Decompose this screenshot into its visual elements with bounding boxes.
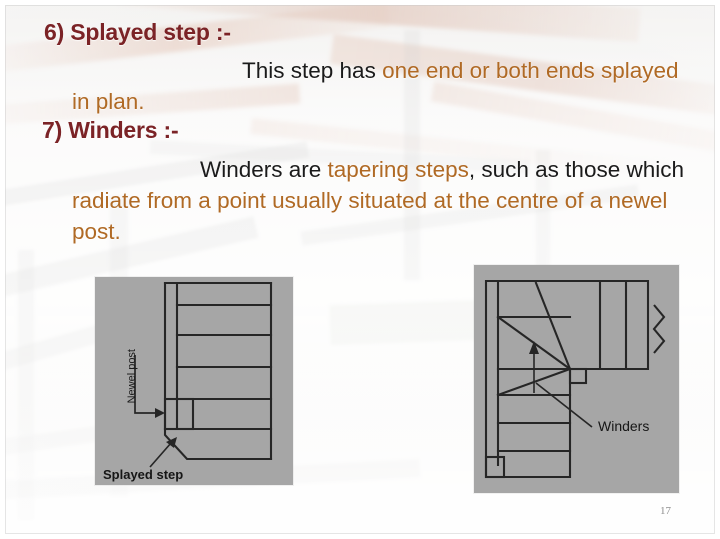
break-line-icon bbox=[654, 305, 664, 353]
splayed-lead-text: This step has bbox=[242, 58, 382, 83]
direction-arrowhead bbox=[529, 341, 539, 354]
winders-lead-text: Winders are bbox=[200, 157, 328, 182]
figure-splayed-step-plan: Newel post Splayed step bbox=[95, 277, 293, 485]
winders-highlight-one: tapering steps bbox=[328, 157, 469, 182]
newel-arrowhead bbox=[155, 408, 165, 418]
heading-winders: 7) Winders :- bbox=[42, 117, 178, 144]
winders-leader-line bbox=[536, 383, 592, 427]
label-winders: Winders bbox=[598, 418, 649, 434]
presentation-slide: 6) Splayed step :- This step has one end… bbox=[0, 0, 720, 539]
figure-winders-plan: Winders bbox=[474, 265, 679, 493]
paragraph-splayed-step: This step has one end or both ends splay… bbox=[72, 55, 692, 117]
winders-mid-text: , such as those which bbox=[469, 157, 684, 182]
label-newel-post: Newel post bbox=[126, 349, 138, 403]
slide-number: 17 bbox=[660, 505, 671, 517]
winders-drawing: Winders bbox=[474, 265, 679, 493]
winders-highlight-two: radiate from a point usually situated at… bbox=[72, 188, 667, 244]
splayed-step-drawing: Newel post Splayed step bbox=[95, 277, 293, 485]
slide-text-body: 6) Splayed step :- This step has one end… bbox=[0, 0, 720, 260]
heading-splayed-step: 6) Splayed step :- bbox=[44, 19, 231, 46]
paragraph-winders: Winders are tapering steps, such as thos… bbox=[72, 154, 692, 247]
label-splayed-step: Splayed step bbox=[103, 467, 183, 482]
